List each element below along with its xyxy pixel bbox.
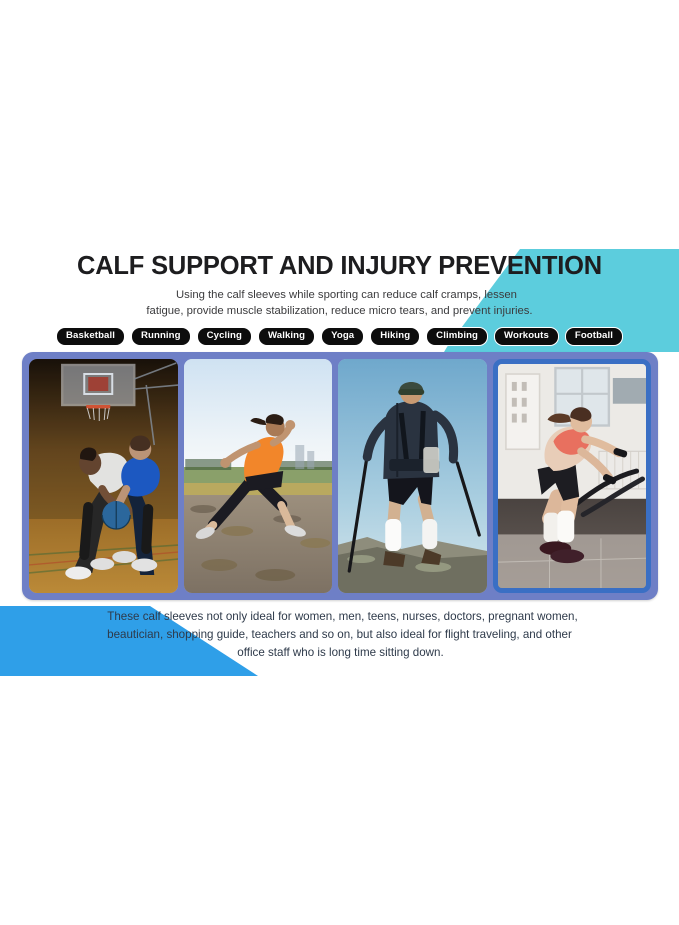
badge-hiking[interactable]: Hiking [370, 327, 420, 346]
badge-basketball[interactable]: Basketball [56, 327, 125, 346]
page-title: CALF SUPPORT AND INJURY PREVENTION [0, 236, 679, 280]
photo-gallery-panel [22, 352, 658, 600]
footer-line-2: beautician, shopping guide, teachers and… [40, 626, 639, 644]
badge-running[interactable]: Running [131, 327, 191, 346]
footer-line-1: These calf sleeves not only ideal for wo… [40, 608, 639, 626]
photo-workout[interactable] [493, 359, 652, 593]
subtitle: Using the calf sleeves while sporting ca… [0, 287, 679, 319]
photo-basketball[interactable] [29, 359, 178, 593]
badge-workouts[interactable]: Workouts [494, 327, 559, 346]
footer-line-3: office staff who is long time sitting do… [40, 644, 639, 662]
subtitle-line-2: fatigue, provide muscle stabilization, r… [95, 303, 584, 319]
footer-description: These calf sleeves not only ideal for wo… [0, 608, 679, 662]
photo-running[interactable] [184, 359, 333, 593]
activity-badge-row: Basketball Running Cycling Walking Yoga … [0, 327, 679, 346]
badge-walking[interactable]: Walking [258, 327, 315, 346]
badge-climbing[interactable]: Climbing [426, 327, 488, 346]
photo-hiking[interactable] [338, 359, 487, 593]
badge-yoga[interactable]: Yoga [321, 327, 364, 346]
promo-banner: CALF SUPPORT AND INJURY PREVENTION Using… [0, 236, 679, 346]
badge-cycling[interactable]: Cycling [197, 327, 252, 346]
badge-football[interactable]: Football [565, 327, 623, 346]
subtitle-line-1: Using the calf sleeves while sporting ca… [95, 287, 584, 303]
